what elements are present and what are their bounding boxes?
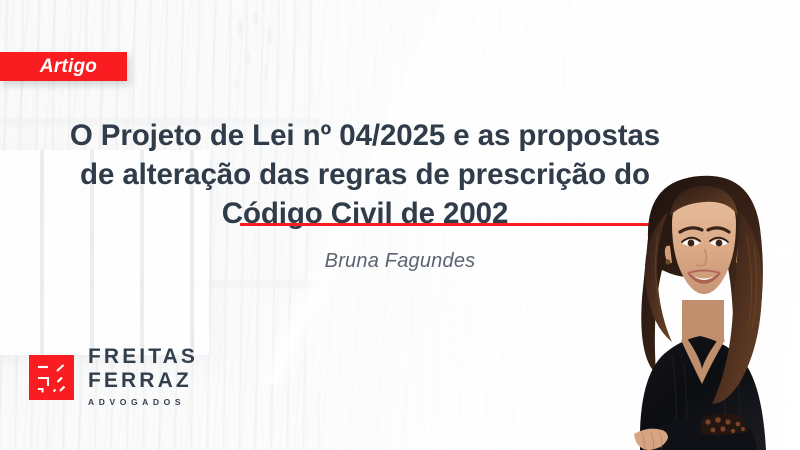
brand-logo[interactable]: FREITAS FERRAZ ADVOGADOS [29,345,198,410]
page-title: O Projeto de Lei nº 04/2025 e as propost… [60,116,670,233]
freitas-ferraz-mark-icon [29,355,74,400]
headline-part-2-bold: Lei nº 04/2025 [252,119,445,152]
author-portrait [610,150,800,450]
portrait-eye-right [716,240,723,247]
article-banner: Artigo O Projeto de Lei nº 04/2025 e as … [0,0,800,450]
category-badge-label: Artigo [20,56,107,78]
title-divider [240,223,668,226]
brand-wordmark-line-1: FREITAS [88,345,198,369]
brand-wordmark: FREITAS FERRAZ ADVOGADOS [88,345,198,410]
category-badge[interactable]: Artigo [0,52,127,81]
portrait-earring [665,259,670,264]
portrait-eye-left [688,240,695,247]
brand-wordmark-tagline: ADVOGADOS [88,395,198,410]
headline-part-1: O Projeto de [70,119,252,152]
brand-wordmark-line-2: FERRAZ [88,369,198,393]
